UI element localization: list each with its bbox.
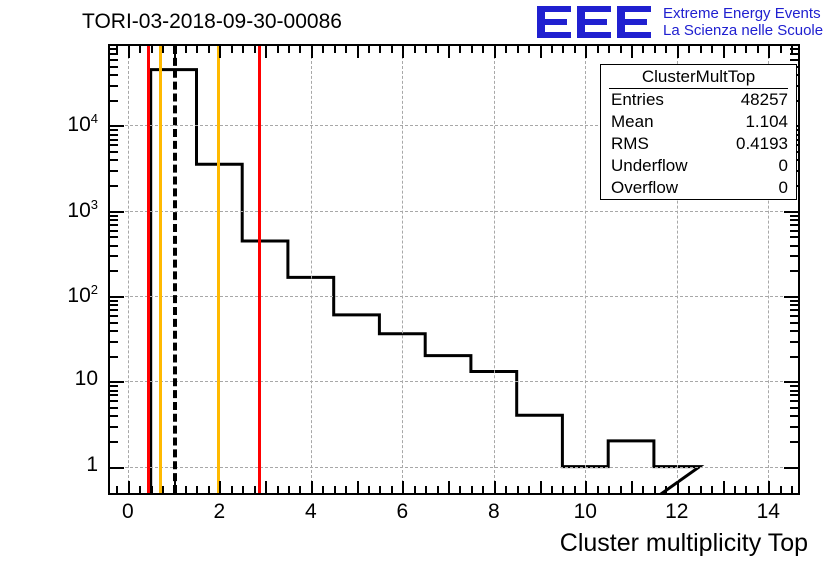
y-tick-minor	[110, 129, 118, 131]
x-tick-major	[540, 481, 542, 493]
y-tick-minor-right	[790, 300, 798, 302]
x-tick-major-top	[219, 46, 221, 58]
x-tick-major	[357, 481, 359, 493]
x-tick-minor	[665, 486, 667, 493]
x-tick-major-top	[540, 46, 542, 58]
y-tick-minor	[110, 400, 118, 402]
x-tick-minor	[471, 486, 473, 493]
x-axis-title: Cluster multiplicity Top	[560, 529, 808, 558]
y-tick-minor	[110, 151, 118, 153]
x-tick-minor	[185, 486, 187, 493]
x-tick-minor-top	[288, 46, 290, 53]
y-tick-minor	[110, 134, 118, 136]
y-tick-major	[110, 467, 124, 469]
x-tick-major	[723, 481, 725, 493]
y-tick-major-right	[784, 211, 798, 213]
y-tick-minor-right	[790, 407, 798, 409]
y-tick-label: 103	[10, 197, 98, 223]
x-tick-minor	[734, 486, 736, 493]
y-tick-minor-right	[790, 322, 798, 324]
x-tick-minor	[517, 486, 519, 493]
x-tick-minor	[620, 486, 622, 493]
gridline-horizontal	[110, 211, 798, 212]
stats-value: 48257	[741, 90, 788, 110]
x-tick-minor	[654, 486, 656, 493]
y-tick-minor-right	[790, 59, 798, 61]
x-tick-minor	[711, 486, 713, 493]
x-tick-minor-top	[642, 46, 644, 53]
y-tick-minor-right	[790, 356, 798, 358]
x-tick-major	[265, 481, 267, 493]
x-tick-minor-top	[459, 46, 461, 53]
x-tick-minor-top	[551, 46, 553, 53]
x-tick-label: 4	[281, 500, 341, 524]
x-tick-major	[631, 481, 633, 493]
x-tick-minor-top	[734, 46, 736, 53]
x-tick-major	[448, 481, 450, 493]
x-tick-minor-top	[151, 46, 153, 53]
x-tick-major-top	[677, 46, 679, 58]
gridline-horizontal	[110, 467, 798, 468]
y-tick-minor	[110, 74, 118, 76]
x-tick-minor	[368, 486, 370, 493]
x-tick-minor	[288, 486, 290, 493]
x-tick-minor-top	[242, 46, 244, 53]
y-tick-minor-right	[790, 441, 798, 443]
marker-line-threshold-orange-low	[159, 46, 162, 493]
x-tick-minor-top	[471, 46, 473, 53]
x-tick-major-top	[311, 46, 313, 58]
y-tick-minor	[110, 139, 118, 141]
stats-row: RMS0.4193	[601, 133, 796, 155]
x-tick-minor-top	[562, 46, 564, 53]
x-tick-major-top	[631, 46, 633, 58]
x-tick-minor	[345, 486, 347, 493]
x-tick-minor	[322, 486, 324, 493]
x-tick-minor	[437, 486, 439, 493]
y-tick-minor	[110, 300, 118, 302]
stats-key: Entries	[611, 90, 664, 110]
y-tick-minor	[110, 144, 118, 146]
x-tick-minor-top	[208, 46, 210, 53]
y-tick-minor-right	[790, 270, 798, 272]
x-tick-minor	[700, 486, 702, 493]
eee-logo: Extreme Energy Events La Scienza nelle S…	[537, 4, 833, 42]
y-tick-minor-right	[790, 245, 798, 247]
x-tick-minor	[151, 486, 153, 493]
marker-line-threshold-orange-high	[217, 46, 220, 493]
x-tick-minor	[505, 486, 507, 493]
y-tick-minor	[110, 85, 118, 87]
y-tick-minor-right	[790, 255, 798, 257]
y-tick-label: 10	[10, 367, 98, 391]
x-tick-minor-top	[597, 46, 599, 53]
page-title: TORI-03-2018-09-30-00086	[82, 10, 342, 34]
y-tick-minor	[110, 394, 118, 396]
y-tick-minor	[110, 315, 118, 317]
x-tick-minor	[642, 486, 644, 493]
x-tick-label: 10	[555, 500, 615, 524]
y-tick-minor	[110, 322, 118, 324]
x-tick-minor	[208, 486, 210, 493]
x-tick-minor-top	[517, 46, 519, 53]
y-tick-minor	[110, 236, 118, 238]
y-tick-minor-right	[790, 53, 798, 55]
x-tick-minor-top	[368, 46, 370, 53]
chart-page: TORI-03-2018-09-30-00086	[0, 0, 836, 572]
x-tick-major	[768, 481, 770, 493]
y-tick-major	[110, 211, 124, 213]
x-tick-minor	[242, 486, 244, 493]
x-tick-major-top	[402, 46, 404, 58]
x-tick-major	[311, 481, 313, 493]
x-tick-minor-top	[185, 46, 187, 53]
x-tick-major-top	[768, 46, 770, 58]
y-tick-minor-right	[790, 330, 798, 332]
marker-line-threshold-red-low	[147, 46, 150, 493]
x-tick-minor-top	[196, 46, 198, 53]
y-tick-minor	[110, 59, 118, 61]
x-tick-minor-top	[254, 46, 256, 53]
y-tick-minor-right	[790, 48, 798, 50]
x-tick-minor-top	[231, 46, 233, 53]
y-tick-minor	[110, 304, 118, 306]
y-tick-minor	[110, 245, 118, 247]
y-tick-minor	[110, 159, 118, 161]
x-tick-major	[402, 481, 404, 493]
y-tick-label: 1	[10, 453, 98, 477]
x-tick-minor-top	[700, 46, 702, 53]
x-tick-minor-top	[482, 46, 484, 53]
stats-key: Underflow	[611, 156, 688, 176]
stats-row: Mean1.104	[601, 111, 796, 133]
x-tick-minor	[391, 486, 393, 493]
x-tick-major-top	[723, 46, 725, 58]
y-tick-minor-right	[790, 415, 798, 417]
x-tick-major-top	[128, 46, 130, 58]
y-tick-minor	[110, 255, 118, 257]
stats-rows: Entries48257Mean1.104RMS0.4193Underflow0…	[601, 89, 796, 199]
x-tick-minor-top	[437, 46, 439, 53]
stats-value: 1.104	[745, 112, 788, 132]
y-tick-minor	[110, 66, 118, 68]
marker-line-mean-dashed	[173, 46, 177, 493]
y-tick-minor-right	[790, 426, 798, 428]
x-tick-minor	[379, 486, 381, 493]
x-tick-minor	[196, 486, 198, 493]
x-tick-major	[219, 481, 221, 493]
y-tick-minor	[110, 309, 118, 311]
x-tick-minor	[277, 486, 279, 493]
x-tick-minor	[254, 486, 256, 493]
stats-value: 0.4193	[736, 134, 788, 154]
y-tick-minor	[110, 224, 118, 226]
x-tick-minor	[757, 486, 759, 493]
y-tick-minor-right	[790, 341, 798, 343]
x-tick-minor	[231, 486, 233, 493]
gridline-vertical	[402, 46, 403, 493]
x-tick-minor	[574, 486, 576, 493]
x-tick-minor	[780, 486, 782, 493]
y-tick-minor	[110, 441, 118, 443]
y-tick-minor-right	[790, 385, 798, 387]
y-tick-minor-right	[790, 219, 798, 221]
x-tick-minor-top	[608, 46, 610, 53]
x-tick-minor-top	[757, 46, 759, 53]
x-tick-major	[677, 481, 679, 493]
x-tick-label: 6	[372, 500, 432, 524]
x-tick-minor-top	[379, 46, 381, 53]
y-tick-major	[110, 296, 124, 298]
x-tick-major-top	[448, 46, 450, 58]
y-tick-major-right	[784, 467, 798, 469]
x-tick-minor-top	[162, 46, 164, 53]
x-tick-minor	[562, 486, 564, 493]
gridline-vertical	[128, 46, 129, 493]
y-tick-label: 104	[10, 111, 98, 137]
y-tick-minor-right	[790, 215, 798, 217]
y-tick-minor-right	[790, 390, 798, 392]
gridline-vertical	[311, 46, 312, 493]
x-tick-label: 2	[189, 500, 249, 524]
x-tick-minor-top	[745, 46, 747, 53]
y-tick-major	[110, 381, 124, 383]
gridline-vertical	[585, 46, 586, 493]
stats-key: Overflow	[611, 178, 678, 198]
gridline-horizontal	[110, 381, 798, 382]
y-tick-minor	[110, 215, 118, 217]
x-tick-minor-top	[334, 46, 336, 53]
y-tick-minor	[110, 330, 118, 332]
x-tick-minor	[745, 486, 747, 493]
x-tick-minor-top	[425, 46, 427, 53]
y-tick-minor-right	[790, 315, 798, 317]
x-tick-major-top	[174, 46, 176, 58]
x-tick-major-top	[494, 46, 496, 58]
x-tick-minor-top	[391, 46, 393, 53]
x-tick-minor	[608, 486, 610, 493]
x-tick-major-top	[265, 46, 267, 58]
x-tick-minor-top	[688, 46, 690, 53]
x-tick-minor-top	[528, 46, 530, 53]
x-tick-minor	[334, 486, 336, 493]
stats-box: ClusterMultTop Entries48257Mean1.104RMS0…	[600, 64, 797, 200]
y-tick-major	[110, 125, 124, 127]
x-tick-minor	[551, 486, 553, 493]
y-tick-minor	[110, 185, 118, 187]
x-tick-minor-top	[654, 46, 656, 53]
x-tick-minor	[528, 486, 530, 493]
y-tick-minor	[110, 219, 118, 221]
x-tick-minor-top	[277, 46, 279, 53]
x-tick-major	[174, 481, 176, 493]
x-tick-label: 12	[647, 500, 707, 524]
x-tick-label: 0	[98, 500, 158, 524]
eee-logo-text: Extreme Energy Events La Scienza nelle S…	[663, 5, 823, 39]
marker-line-threshold-red-high	[258, 46, 261, 493]
x-tick-minor-top	[505, 46, 507, 53]
x-tick-minor-top	[139, 46, 141, 53]
eee-logo-line2: La Scienza nelle Scuole	[663, 22, 823, 39]
x-tick-minor	[688, 486, 690, 493]
x-tick-minor	[597, 486, 599, 493]
x-tick-major-top	[585, 46, 587, 58]
x-tick-minor-top	[345, 46, 347, 53]
eee-logo-line1: Extreme Energy Events	[663, 5, 823, 22]
y-tick-minor-right	[790, 394, 798, 396]
x-tick-label: 14	[738, 500, 798, 524]
stats-key: Mean	[611, 112, 654, 132]
stats-key: RMS	[611, 134, 649, 154]
x-tick-minor-top	[322, 46, 324, 53]
y-tick-minor	[110, 100, 118, 102]
y-tick-minor	[110, 426, 118, 428]
y-tick-minor	[110, 407, 118, 409]
y-tick-minor-right	[790, 304, 798, 306]
y-tick-minor	[110, 170, 118, 172]
y-tick-minor	[110, 48, 118, 50]
y-tick-minor	[110, 341, 118, 343]
x-tick-minor	[139, 486, 141, 493]
y-tick-label: 102	[10, 282, 98, 308]
x-tick-minor	[116, 486, 118, 493]
x-tick-label: 8	[464, 500, 524, 524]
x-tick-major-top	[357, 46, 359, 58]
y-tick-minor	[110, 230, 118, 232]
y-tick-minor	[110, 53, 118, 55]
x-tick-minor-top	[574, 46, 576, 53]
x-tick-minor-top	[711, 46, 713, 53]
x-tick-minor	[791, 486, 793, 493]
x-tick-minor	[299, 486, 301, 493]
y-tick-major-right	[784, 296, 798, 298]
y-tick-minor	[110, 356, 118, 358]
y-tick-minor-right	[790, 309, 798, 311]
x-tick-minor-top	[414, 46, 416, 53]
x-tick-major	[585, 481, 587, 493]
y-tick-minor	[110, 415, 118, 417]
x-tick-minor	[162, 486, 164, 493]
x-tick-minor-top	[780, 46, 782, 53]
x-tick-major	[128, 481, 130, 493]
stats-row: Overflow0	[601, 177, 796, 199]
stats-row: Entries48257	[601, 89, 796, 111]
stats-value: 0	[779, 156, 788, 176]
y-tick-minor-right	[790, 224, 798, 226]
x-tick-minor-top	[665, 46, 667, 53]
x-tick-minor	[482, 486, 484, 493]
y-tick-minor-right	[790, 236, 798, 238]
gridline-vertical	[494, 46, 495, 493]
eee-logo-mark	[537, 4, 655, 40]
x-tick-minor	[425, 486, 427, 493]
stats-value: 0	[779, 178, 788, 198]
stats-row: Underflow0	[601, 155, 796, 177]
x-tick-minor	[414, 486, 416, 493]
y-tick-minor	[110, 270, 118, 272]
x-tick-minor-top	[299, 46, 301, 53]
y-tick-minor-right	[790, 400, 798, 402]
x-tick-major	[494, 481, 496, 493]
y-tick-major-right	[784, 381, 798, 383]
y-tick-minor	[110, 385, 118, 387]
y-tick-minor-right	[790, 230, 798, 232]
gridline-horizontal	[110, 296, 798, 297]
stats-title: ClusterMultTop	[609, 65, 788, 89]
x-tick-minor-top	[620, 46, 622, 53]
x-tick-minor	[459, 486, 461, 493]
y-tick-minor	[110, 390, 118, 392]
